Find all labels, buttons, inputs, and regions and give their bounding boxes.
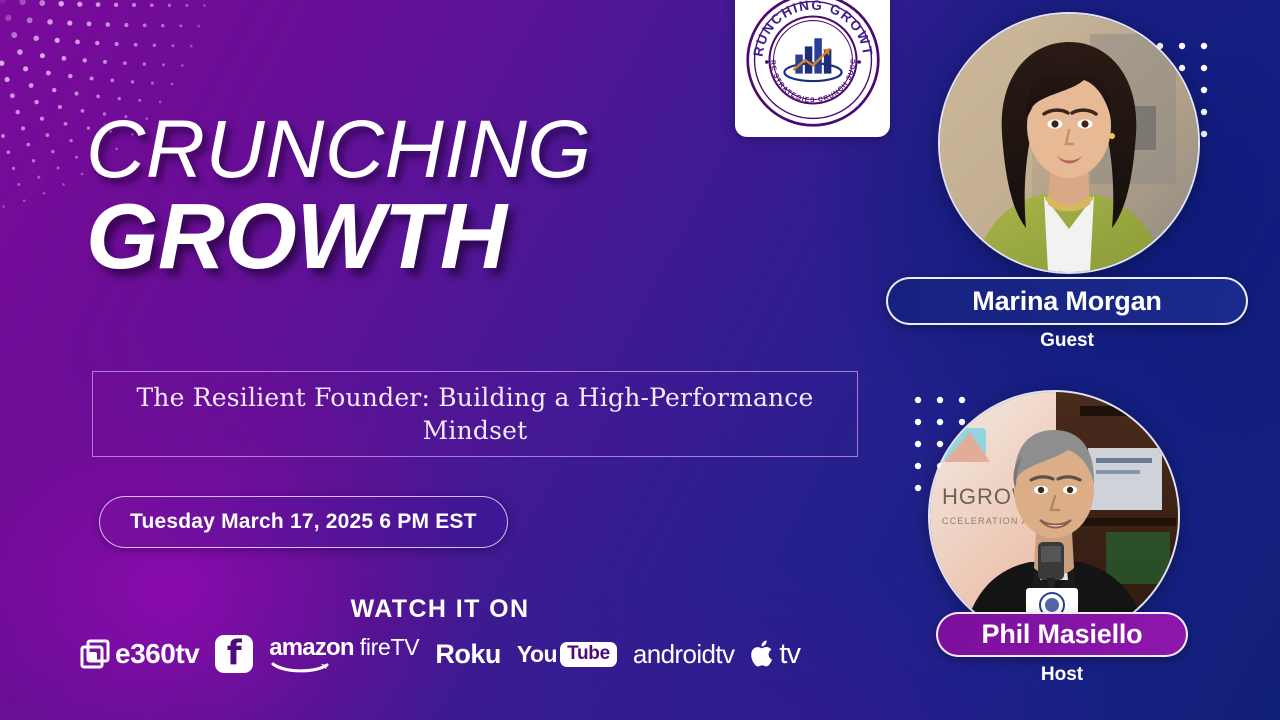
guest-avatar [938,12,1200,274]
firetv-label: fireTV [360,634,420,661]
bar-chart-growth-arrow-icon [784,38,841,81]
guest-name-pill: Marina Morgan [886,277,1248,325]
e360tv-bracket-icon [80,639,110,669]
host-name-pill: Phil Masiello [936,612,1188,657]
androidtv-label: androidtv [633,639,735,670]
host-role: Host [936,664,1188,686]
facebook-icon [215,635,253,673]
platform-apple-tv[interactable]: tv [750,638,800,671]
youtube-tube-label: Tube [560,642,617,667]
e360tv-label: e360tv [115,638,199,670]
guest-role: Guest [886,330,1248,352]
platform-e360tv[interactable]: e360tv [80,638,199,670]
person-host: HGROWT CCELERATION AGENCY [0,0,252,252]
appletv-label: tv [779,638,800,671]
youtube-you-label: You [517,641,557,668]
crunching-growth-logo-card: CRUNCHING GROWTH WHERE STRATEGIES CRUNCH… [735,0,890,137]
promo-poster: {} CRUNCHING GROWTH The Resilient Fo [0,0,1280,720]
host-photo: HGROWT CCELERATION AGENCY [930,392,1178,640]
amazon-smile-icon [271,662,333,674]
guest-photo [940,14,1198,272]
watch-it-on-heading: WATCH IT ON [0,595,880,624]
platform-roku[interactable]: Roku [435,639,501,670]
episode-subtitle-box: The Resilient Founder: Building a High-P… [92,371,858,457]
host-name: Phil Masiello [982,619,1143,650]
platform-facebook[interactable] [215,635,253,673]
episode-date-pill: Tuesday March 17, 2025 6 PM EST [99,496,508,548]
host-avatar: HGROWT CCELERATION AGENCY [928,390,1180,642]
episode-subtitle: The Resilient Founder: Building a High-P… [119,381,831,448]
apple-icon [750,639,776,669]
platform-youtube[interactable]: You Tube [517,641,617,668]
platform-amazon-fire-tv[interactable]: amazon fireTV [269,634,419,674]
guest-name: Marina Morgan [972,286,1161,317]
roku-label: Roku [435,639,501,670]
platform-logo-row: e360tv amazon fireTV Roku You [0,634,880,674]
episode-date: Tuesday March 17, 2025 6 PM EST [130,510,477,534]
crunching-growth-logo: CRUNCHING GROWTH WHERE STRATEGIES CRUNCH… [745,0,881,128]
amazon-label: amazon [269,634,354,662]
platform-android-tv[interactable]: androidtv [633,639,735,670]
